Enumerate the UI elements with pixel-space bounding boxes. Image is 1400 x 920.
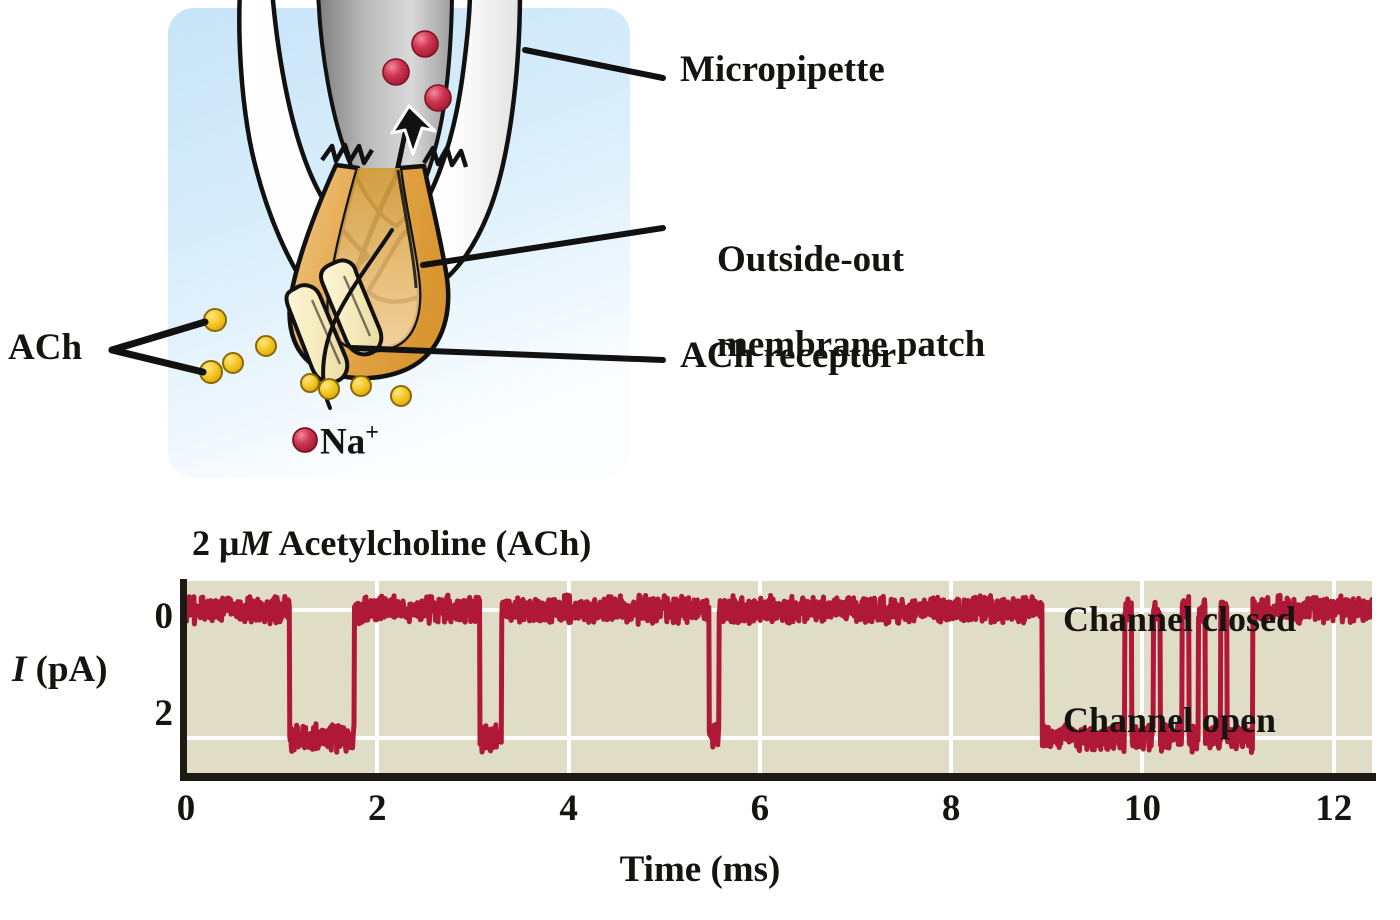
x-tick-label: 8 xyxy=(916,787,986,830)
y-axis-title-symbol: I xyxy=(12,649,26,690)
label-sodium-ion: Na+ xyxy=(320,420,379,464)
x-axis-spine xyxy=(180,773,1376,781)
y-axis-title-unit: (pA) xyxy=(26,649,107,690)
x-axis-title: Time (ms) xyxy=(0,848,1400,891)
x-tick-label: 6 xyxy=(725,787,795,830)
x-tick-label: 4 xyxy=(534,787,604,830)
label-micropipette: Micropipette xyxy=(680,49,885,91)
label-ach-receptor: ACh receptor xyxy=(680,335,896,377)
x-tick-label: 12 xyxy=(1299,787,1369,830)
x-tick-label: 10 xyxy=(1107,787,1177,830)
y-tick-label-0: 0 xyxy=(133,595,173,638)
chart-title: 2 μM Acetylcholine (ACh) xyxy=(192,522,591,564)
x-tick-label: 2 xyxy=(342,787,412,830)
x-tick-label: 0 xyxy=(151,787,221,830)
chart-title-suffix: Acetylcholine (ACh) xyxy=(271,523,591,563)
chart-title-italic-molar: M xyxy=(239,523,271,563)
label-ach: ACh xyxy=(8,327,82,369)
y-tick-label-2: 2 xyxy=(133,692,173,735)
label-membrane-patch-line1: Outside-out xyxy=(717,239,904,280)
annotation-channel-closed: Channel closed xyxy=(1063,598,1296,640)
chart-title-prefix: 2 μ xyxy=(192,523,239,563)
sodium-legend-sphere-icon xyxy=(293,428,317,452)
y-axis-title: I (pA) xyxy=(12,648,108,691)
label-sodium-charge: + xyxy=(365,420,379,446)
y-axis-spine xyxy=(180,579,187,775)
label-sodium-ion-text: Na xyxy=(320,421,365,462)
annotation-channel-open: Channel open xyxy=(1063,699,1276,741)
single-channel-recording-chart: 2 μM Acetylcholine (ACh) 0 2 I (pA) Time… xyxy=(0,500,1400,920)
patch-clamp-illustration: Micropipette Outside-out membrane patch … xyxy=(0,0,1400,500)
